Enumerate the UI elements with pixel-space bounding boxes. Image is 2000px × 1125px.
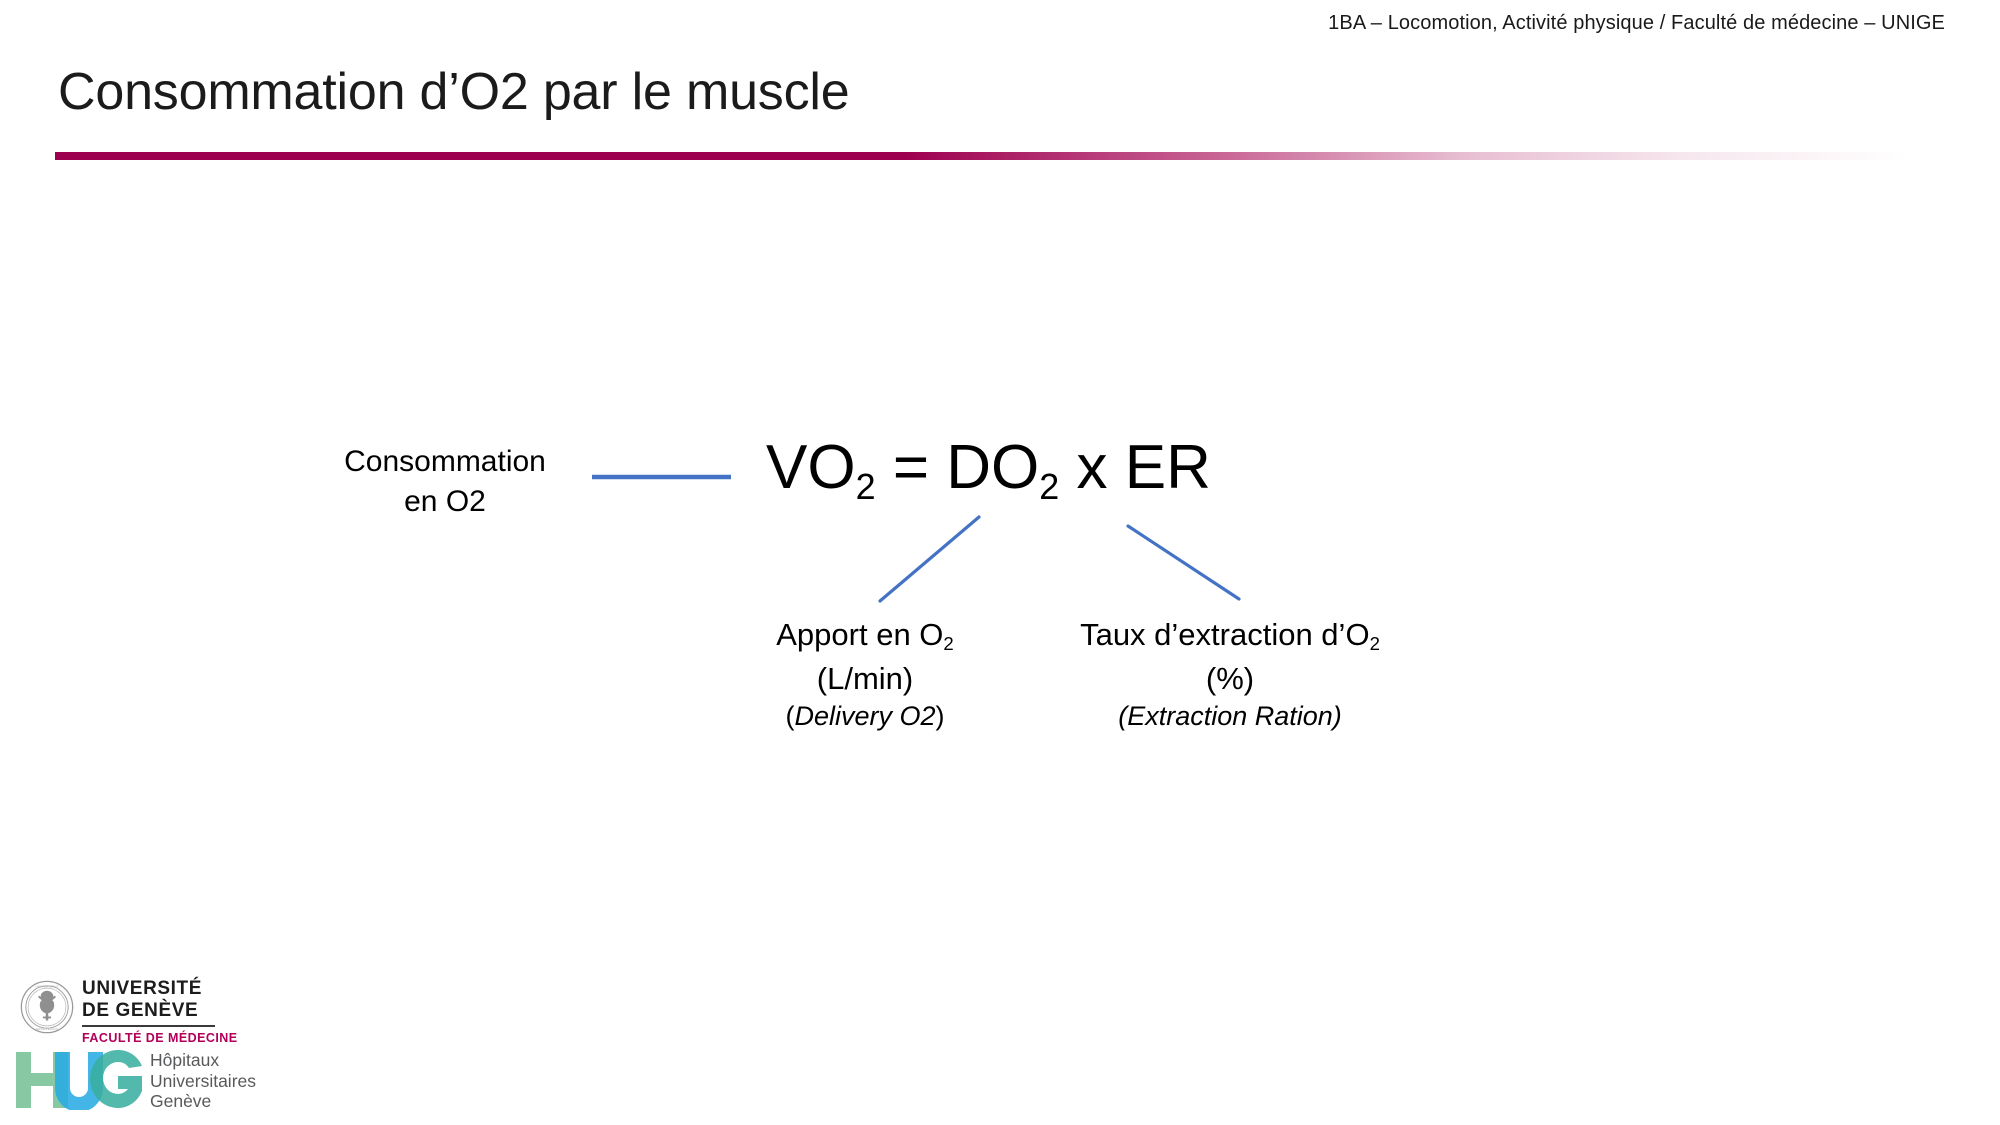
formula-diagram: Consommation en O2 VO2 = DO2 x ER Apport…	[0, 0, 2000, 1125]
branch-extraction-title-main: Taux d’extraction d’O	[1080, 617, 1369, 652]
hug-letters-icon	[14, 1048, 144, 1110]
hug-wordmark-line1: Hôpitaux	[150, 1050, 256, 1071]
hug-wordmark-line3: Genève	[150, 1091, 256, 1112]
branch-extraction-title-subscript: 2	[1370, 633, 1380, 654]
unige-wordmark: UNIVERSITÉ DE GENÈVE FACULTÉ DE MÉDECINE	[82, 978, 217, 1045]
formula-times-sign: x	[1059, 433, 1124, 502]
connector-diagonal-er	[1128, 526, 1239, 599]
unige-seal-icon: · UNIVERSITAS · · GENEVENSIS ·	[20, 980, 74, 1034]
unige-wordmark-line2: DE GENÈVE	[82, 1000, 217, 1022]
branch-extraction-title: Taux d’extraction d’O2	[1025, 615, 1435, 659]
branch-extraction-english: (Extraction Ration)	[1025, 698, 1435, 734]
unige-wordmark-underline	[82, 1025, 215, 1027]
branch-taux-extraction-o2: Taux d’extraction d’O2 (%) (Extraction R…	[1025, 615, 1435, 734]
slide-canvas: 1BA – Locomotion, Activité physique / Fa…	[0, 0, 2000, 1125]
branch-apport-title: Apport en O2	[705, 615, 1025, 659]
branch-extraction-english-term: (Extraction Ration)	[1118, 701, 1342, 731]
svg-text:· GENEVENSIS ·: · GENEVENSIS ·	[33, 1027, 60, 1031]
label-consommation-en-o2: Consommation en O2	[330, 442, 560, 522]
branch-apport-english: (Delivery O2)	[705, 698, 1025, 734]
unige-wordmark-line1: UNIVERSITÉ	[82, 978, 217, 1000]
formula-do2-subscript: 2	[1039, 466, 1059, 507]
branch-apport-title-main: Apport en O	[776, 617, 943, 652]
label-consommation-line2: en O2	[330, 482, 560, 522]
unige-faculty-label: FACULTÉ DE MÉDECINE	[82, 1031, 217, 1045]
branch-apport-english-term: Delivery O2	[794, 701, 935, 731]
hug-logo: Hôpitaux Universitaires Genève	[14, 1048, 274, 1116]
connector-diagonal-do2	[880, 517, 979, 601]
svg-text:· UNIVERSITAS ·: · UNIVERSITAS ·	[33, 985, 61, 989]
label-consommation-line1: Consommation	[330, 442, 560, 482]
formula-vo2-subscript: 2	[856, 466, 876, 507]
hug-wordmark: Hôpitaux Universitaires Genève	[150, 1050, 256, 1112]
formula-vo2-equals-do2-times-er: VO2 = DO2 x ER	[766, 432, 1211, 512]
branch-extraction-unit: (%)	[1025, 659, 1435, 698]
formula-vo2-main: VO	[766, 433, 856, 502]
branch-apport-unit: (L/min)	[705, 659, 1025, 698]
unige-logo: · UNIVERSITAS · · GENEVENSIS · UNIVERSIT…	[20, 978, 220, 1056]
branch-apport-title-subscript: 2	[943, 633, 953, 654]
branch-apport-paren-close: )	[936, 701, 945, 731]
formula-equals-sign: =	[876, 433, 947, 502]
formula-do2-main: DO	[946, 433, 1039, 502]
formula-er: ER	[1125, 433, 1211, 502]
connector-lines	[0, 0, 2000, 1125]
hug-wordmark-line2: Universitaires	[150, 1071, 256, 1092]
branch-apport-en-o2: Apport en O2 (L/min) (Delivery O2)	[705, 615, 1025, 734]
